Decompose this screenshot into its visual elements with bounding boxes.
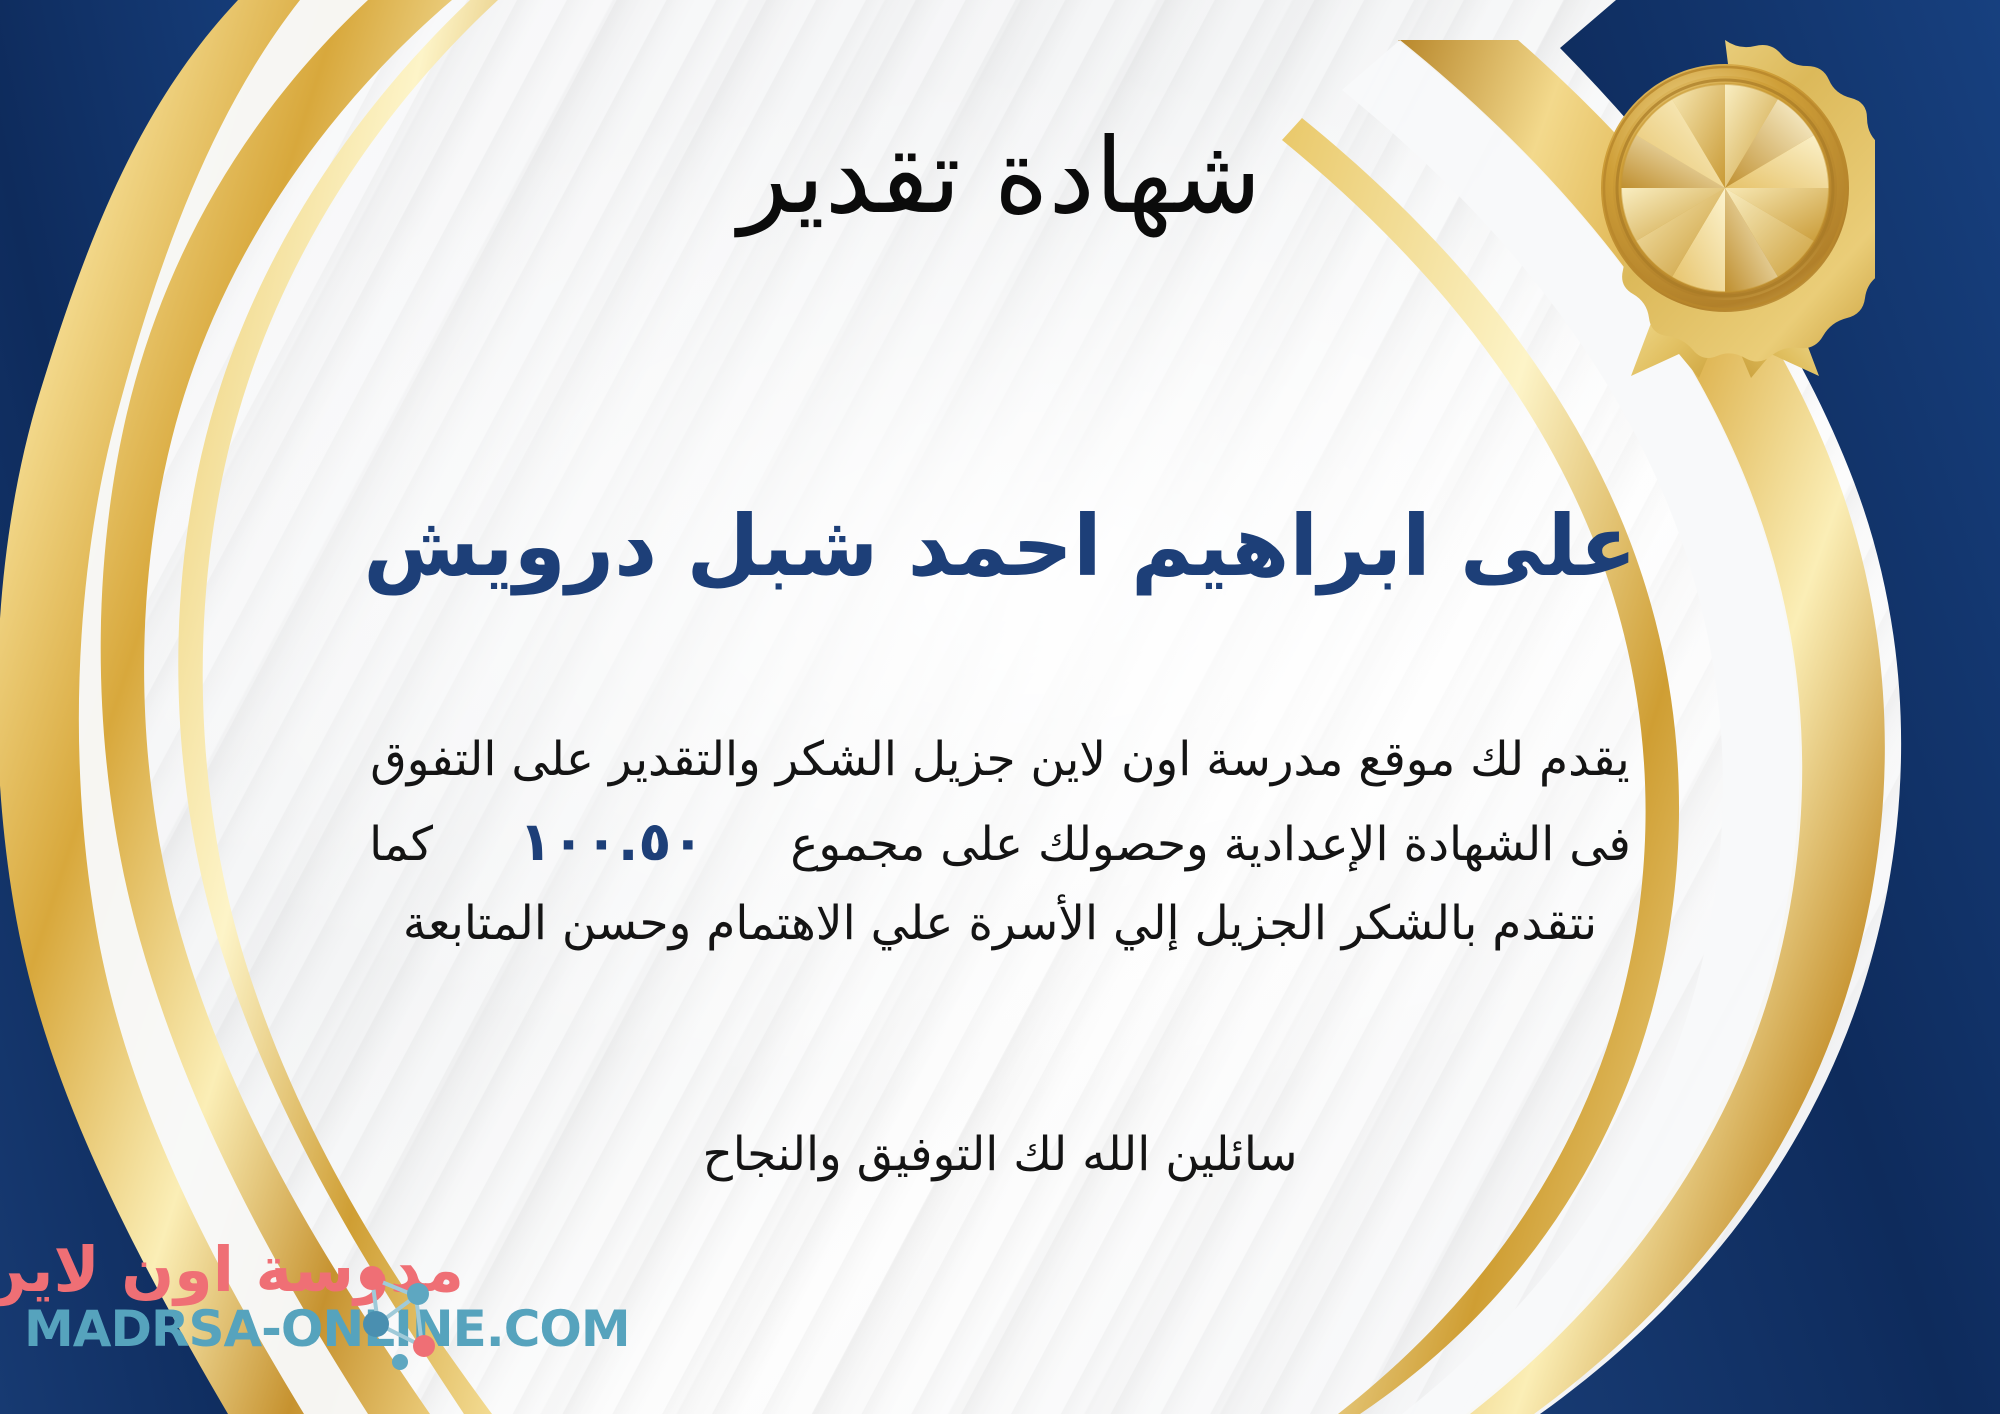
page-title: شهادة تقدير <box>0 118 2000 234</box>
certificate-content: شهادة تقدير على ابراهيم احمد شبل درويش ي… <box>0 0 2000 1414</box>
brand-logo[interactable]: مدرسة اون لاين MADRSA-ONLINE.COM <box>24 1238 464 1388</box>
certificate-page: شهادة تقدير على ابراهيم احمد شبل درويش ي… <box>0 0 2000 1414</box>
body-line-2: فى الشهادة الإعدادية وحصولك على مجموع ١٠… <box>60 798 1940 885</box>
recipient-name: على ابراهيم احمد شبل درويش <box>0 497 2000 596</box>
body-line-2-text-before: فى الشهادة الإعدادية وحصولك على مجموع <box>790 807 1631 883</box>
body-line-2-text-after: كما <box>369 807 433 883</box>
closing-wish: سائلين الله لك التوفيق والنجاح <box>0 1120 2000 1191</box>
certificate-body: يقدم لك موقع مدرسة اون لاين جزيل الشكر و… <box>60 722 1940 962</box>
grade-total-value: ١٠٠.٥٠ <box>433 798 790 885</box>
network-nodes-icon <box>342 1254 452 1374</box>
body-line-1: يقدم لك موقع مدرسة اون لاين جزيل الشكر و… <box>60 722 1940 798</box>
body-line-3: نتقدم بالشكر الجزيل إلي الأسرة علي الاهت… <box>60 886 1940 962</box>
